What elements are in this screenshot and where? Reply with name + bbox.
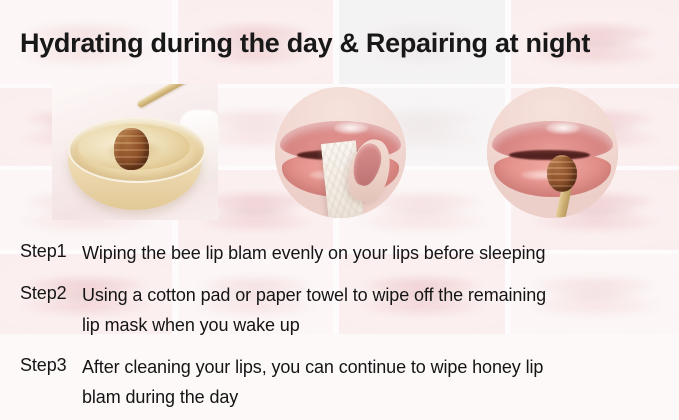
step-row: Step3 After cleaning your lips, you can … bbox=[0, 352, 679, 412]
step-text-line: blam during the day bbox=[82, 382, 652, 412]
lip-care-instruction-poster: Hydrating during the day & Repairing at … bbox=[0, 0, 679, 420]
step-text-line: Using a cotton pad or paper towel to wip… bbox=[82, 280, 652, 310]
step-text: Wiping the bee lip blam evenly on your l… bbox=[82, 238, 652, 268]
step-text-line: After cleaning your lips, you can contin… bbox=[82, 352, 652, 382]
step-label: Step1 bbox=[20, 238, 82, 265]
page-title: Hydrating during the day & Repairing at … bbox=[20, 27, 590, 59]
step-text: Using a cotton pad or paper towel to wip… bbox=[82, 280, 652, 340]
step-text: After cleaning your lips, you can contin… bbox=[82, 352, 652, 412]
steps-list: Step1 Wiping the bee lip blam evenly on … bbox=[0, 238, 679, 420]
step-label: Step3 bbox=[20, 352, 82, 379]
step-label: Step2 bbox=[20, 280, 82, 307]
lips-honey-dipper-photo bbox=[487, 87, 618, 218]
step-text-line: lip mask when you wake up bbox=[82, 310, 652, 340]
honey-dipper-head-icon bbox=[114, 128, 149, 170]
step-row: Step1 Wiping the bee lip blam evenly on … bbox=[0, 238, 679, 268]
honey-bowl-photo bbox=[52, 84, 218, 220]
honey-dipper-head-icon bbox=[547, 155, 577, 192]
step-row: Step2 Using a cotton pad or paper towel … bbox=[0, 280, 679, 340]
lips-cotton-pad-photo bbox=[275, 87, 406, 218]
step-text-line: Wiping the bee lip blam evenly on your l… bbox=[82, 238, 652, 268]
